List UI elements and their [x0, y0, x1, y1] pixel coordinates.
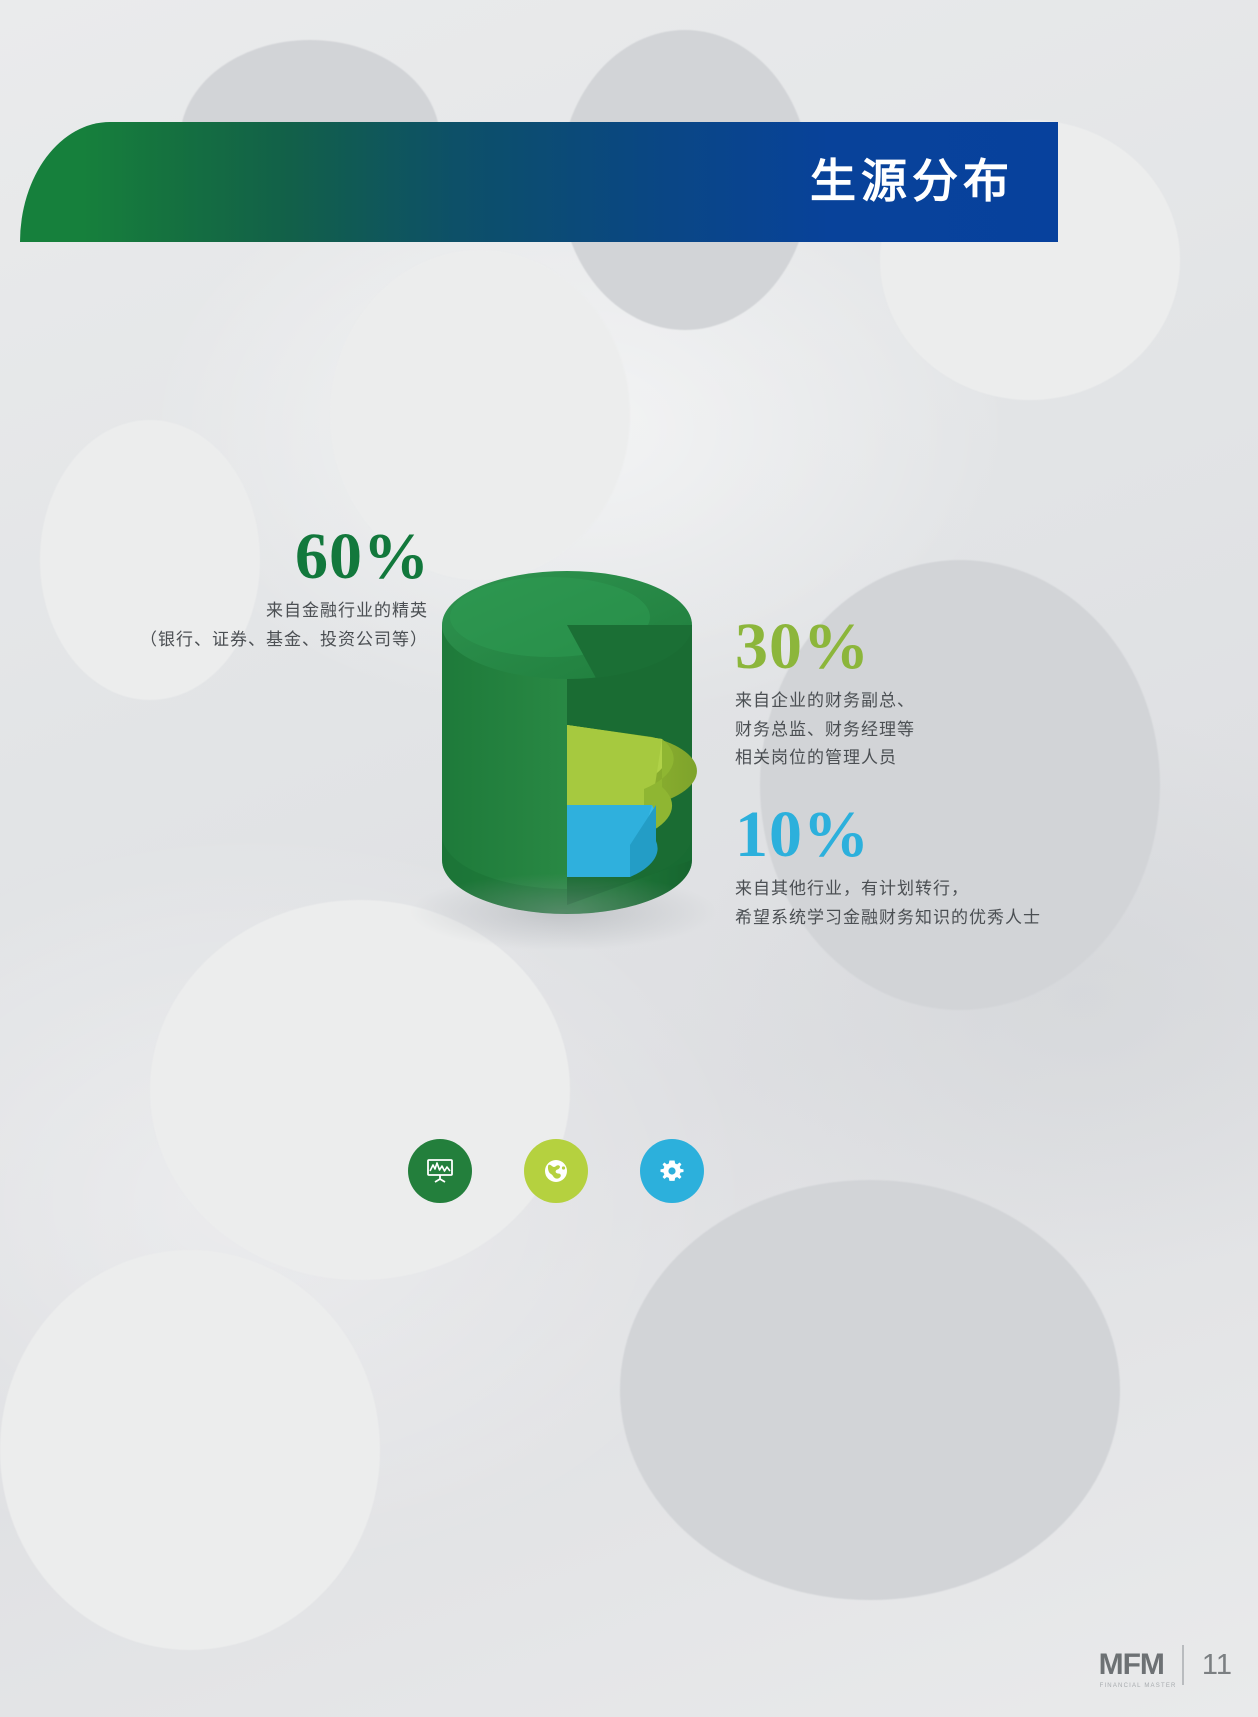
stat-block-30: 30% 来自企业的财务副总、 财务总监、财务经理等 相关岗位的管理人员	[735, 612, 1155, 773]
gear-glyph	[657, 1156, 687, 1186]
page-footer: MFM FINANCIAL MASTER 11	[0, 1607, 1258, 1717]
brand-logo: MFM FINANCIAL MASTER	[1099, 1650, 1164, 1680]
presentation-chart-icon[interactable]	[408, 1139, 472, 1203]
stat-caption-10-line-2: 希望系统学习金融财务知识的优秀人士	[735, 904, 1175, 933]
page-title: 生源分布	[810, 159, 1058, 205]
stat-block-60: 60% 来自金融行业的精英 （银行、证券、基金、投资公司等）	[10, 522, 430, 654]
stat-block-10: 10% 来自其他行业，有计划转行， 希望系统学习金融财务知识的优秀人士	[735, 800, 1175, 932]
gear-icon[interactable]	[640, 1139, 704, 1203]
footer-divider	[1182, 1645, 1184, 1685]
stat-caption-60-line-2: （银行、证券、基金、投资公司等）	[10, 626, 430, 655]
stat-caption-30-line-2: 财务总监、财务经理等	[735, 716, 1155, 745]
stat-percent-30: 30%	[735, 612, 1155, 681]
presentation-chart-glyph	[425, 1156, 455, 1186]
stat-caption-30-line-3: 相关岗位的管理人员	[735, 744, 1155, 773]
footer-inner: MFM FINANCIAL MASTER 11	[1099, 1645, 1232, 1685]
icon-row	[408, 1139, 704, 1203]
pie-chart-shadow	[408, 873, 718, 951]
brand-logo-subtext: FINANCIAL MASTER	[1100, 1683, 1177, 1689]
globe-glyph	[541, 1156, 571, 1186]
bg-shape-6	[620, 1180, 1120, 1600]
stat-caption-10-line-1: 来自其他行业，有计划转行，	[735, 875, 1175, 904]
stat-caption-60: 来自金融行业的精英 （银行、证券、基金、投资公司等）	[10, 597, 430, 654]
stat-percent-60: 60%	[10, 522, 430, 591]
page-header-banner: 生源分布	[20, 122, 1058, 242]
page-number: 11	[1202, 1651, 1232, 1680]
stat-caption-30: 来自企业的财务副总、 财务总监、财务经理等 相关岗位的管理人员	[735, 687, 1155, 773]
pie-chart-3d	[400, 505, 730, 975]
bg-shape-7	[0, 1250, 380, 1650]
brand-logo-text: MFM	[1099, 1648, 1164, 1681]
globe-icon[interactable]	[524, 1139, 588, 1203]
stat-percent-10: 10%	[735, 800, 1175, 869]
stat-caption-10: 来自其他行业，有计划转行， 希望系统学习金融财务知识的优秀人士	[735, 875, 1175, 932]
stat-caption-30-line-1: 来自企业的财务副总、	[735, 687, 1155, 716]
stat-caption-60-line-1: 来自金融行业的精英	[10, 597, 430, 626]
